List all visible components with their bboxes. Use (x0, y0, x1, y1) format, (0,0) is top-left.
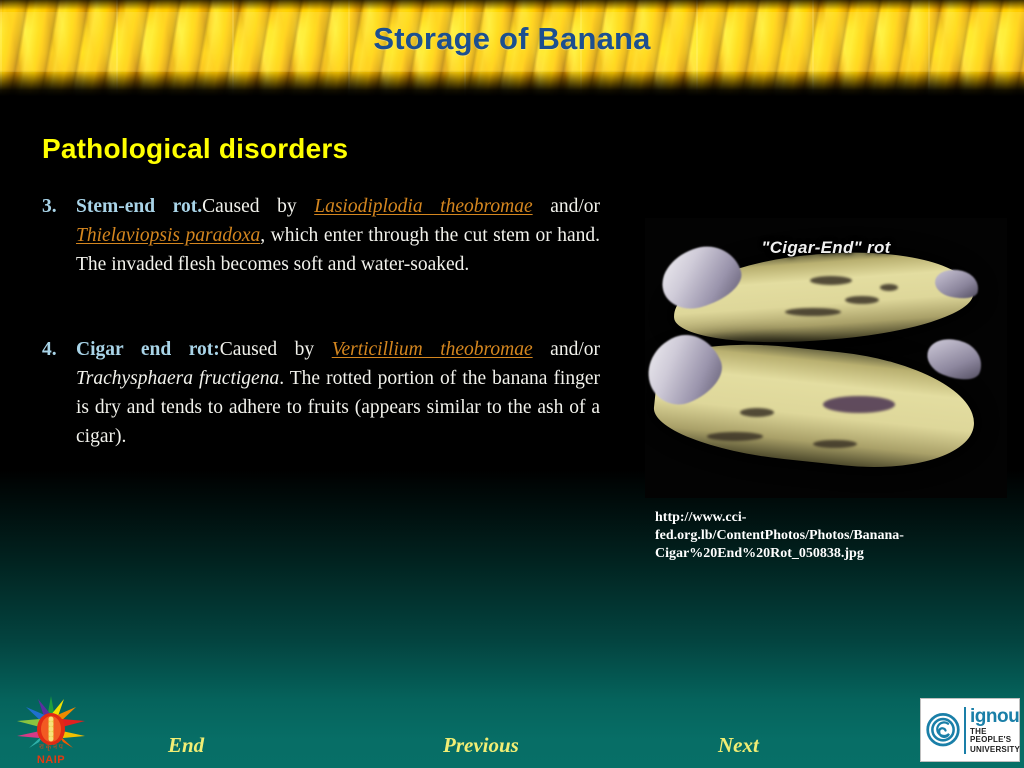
list-item-text-between: and/or (533, 339, 600, 360)
list-item-text-lead: Caused by (202, 196, 314, 217)
ignou-logo: ignou THE PEOPLE'S UNIVERSITY (920, 698, 1020, 762)
nav-previous-link[interactable]: Previous (443, 733, 519, 758)
ignou-text-block: ignou THE PEOPLE'S UNIVERSITY (964, 707, 1020, 754)
bruise-spot (785, 308, 841, 316)
species-link-verticillium[interactable]: Verticillium theobromae (332, 339, 533, 360)
list-item-term: Cigar end rot: (76, 339, 220, 360)
bruise-spot (810, 276, 852, 285)
list-item-text-lead: Caused by (220, 339, 332, 360)
banana-rot-photo: "Cigar-End" rot (645, 218, 1007, 498)
list-item-text-between: and/or (533, 196, 600, 217)
section-heading: Pathological disorders (42, 133, 348, 165)
nav-end-link[interactable]: End (168, 733, 204, 758)
ignou-wordmark: ignou (970, 707, 1020, 726)
bruise-spot (880, 284, 898, 291)
naip-label: NAIP (8, 754, 94, 766)
bruise-spot (813, 440, 857, 448)
photo-source-url: http://www.cci-fed.org.lb/ContentPhotos/… (655, 509, 985, 563)
photo-overlay-caption: "Cigar-End" rot (645, 238, 1007, 258)
ignou-tagline-line1: THE PEOPLE'S (970, 728, 1020, 744)
bruise-spot (845, 296, 879, 304)
species-link-lasiodiplodia[interactable]: Lasiodiplodia theobromae (314, 196, 532, 217)
list-item-number: 4. (42, 335, 57, 364)
bruise-spot (823, 396, 895, 413)
list-item-term: Stem-end rot. (76, 196, 202, 217)
list-item-number: 3. (42, 192, 57, 221)
naip-logo: रा कृ न प NAIP (8, 690, 94, 768)
nav-next-link[interactable]: Next (718, 733, 759, 758)
content-text-column: 3.Stem-end rot.Caused by Lasiodiplodia t… (42, 192, 600, 451)
photo-canvas: "Cigar-End" rot (645, 218, 1007, 498)
naip-star-icon (14, 694, 88, 750)
list-item: 4.Cigar end rot:Caused by Verticillium t… (42, 335, 600, 451)
presentation-slide: Storage of Banana Pathological disorders… (0, 0, 1024, 768)
bruise-spot (740, 408, 774, 417)
species-name-trachysphaera: Trachysphaera fructigena (76, 368, 279, 389)
page-title: Storage of Banana (0, 21, 1024, 57)
ignou-spiral-icon (926, 711, 960, 748)
ignou-tagline-line2: UNIVERSITY (970, 746, 1020, 754)
species-link-thielaviopsis[interactable]: Thielaviopsis paradoxa (76, 225, 260, 246)
slide-footer: रा कृ न प NAIP End Previous Next ignou T… (0, 690, 1024, 768)
bruise-spot (707, 432, 763, 441)
naip-hindi-label: रा कृ न प (8, 743, 94, 752)
list-item: 3.Stem-end rot.Caused by Lasiodiplodia t… (42, 192, 600, 279)
